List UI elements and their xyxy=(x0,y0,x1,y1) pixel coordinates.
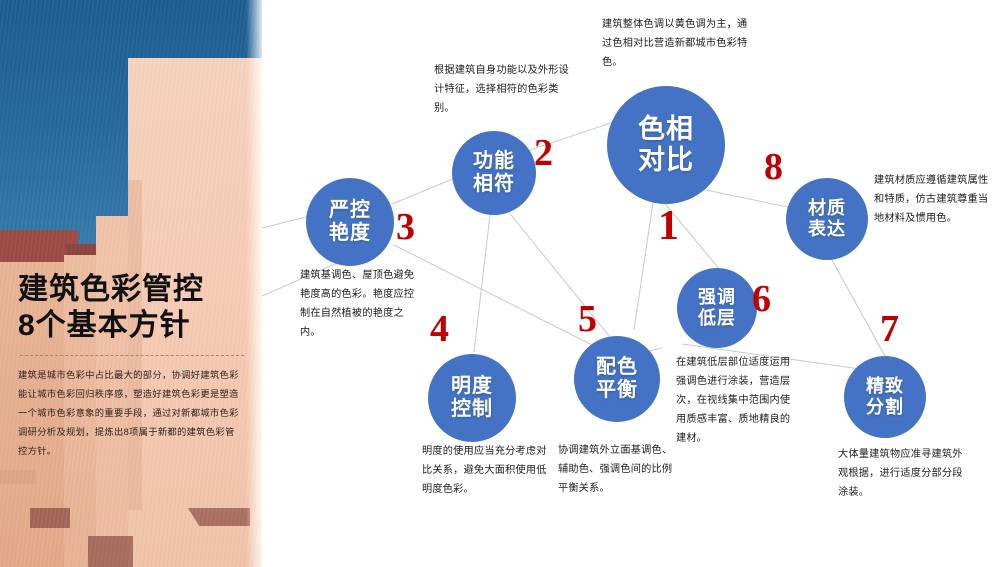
node-1-number: 1 xyxy=(658,205,679,247)
page-title-line-1: 建筑色彩管控 xyxy=(18,272,250,308)
node-3-label: 严控 艳度 xyxy=(329,199,371,245)
node-5-pei-se-ping-heng[interactable]: 配色 平衡 xyxy=(574,336,660,422)
title-block: 建筑色彩管控 8个基本方针 建筑是城市色彩中占比最大的部分，协调好建筑色彩能让城… xyxy=(18,272,250,461)
node-8-number: 8 xyxy=(764,148,783,186)
node-1-label: 色相 对比 xyxy=(638,114,694,176)
node-6-label: 强调 低层 xyxy=(698,287,736,328)
node-2-label: 功能 相符 xyxy=(473,150,515,196)
node-8-note: 建筑材质应遵循建筑属性和特质，仿古建筑尊重当地材料及惯用色。 xyxy=(874,172,996,229)
node-7-label: 精致 分割 xyxy=(866,376,904,417)
title-divider xyxy=(20,355,244,356)
page-title-line-2: 8个基本方针 xyxy=(18,308,250,344)
node-network-diagram: 色相 对比 1 建筑整体色调以黄色调为主，通过色相对比营造新都城市色彩特色。 功… xyxy=(262,0,1000,567)
node-3-note: 建筑基调色、屋顶色避免艳度高的色彩。艳度应控制在自然植被的艳度之内。 xyxy=(300,267,422,343)
node-5-note: 协调建筑外立面基调色、辅助色、强调色间的比例平衡关系。 xyxy=(558,442,680,499)
node-2-gong-neng-xiang-fu[interactable]: 功能 相符 xyxy=(452,131,536,215)
node-6-qiang-diao-di-ceng[interactable]: 强调 低层 xyxy=(677,268,757,348)
node-1-se-xiang-dui-bi[interactable]: 色相 对比 xyxy=(607,86,725,204)
node-2-number: 2 xyxy=(534,134,553,172)
node-5-number: 5 xyxy=(578,300,597,338)
node-3-yan-kong-yan-du[interactable]: 严控 艳度 xyxy=(306,178,394,266)
node-4-note: 明度的使用应当充分考虑对比关系，避免大面积使用低明度色彩。 xyxy=(422,443,550,500)
connector-1-5 xyxy=(634,196,654,330)
lead-paragraph: 建筑是城市色彩中占比最大的部分，协调好建筑色彩能让城市色彩回归秩序感，塑造好建筑… xyxy=(18,366,244,461)
node-1-note: 建筑整体色调以黄色调为主，通过色相对比营造新都城市色彩特色。 xyxy=(602,16,752,73)
node-2-note: 根据建筑自身功能以及外形设计特征，选择相符的色彩类别。 xyxy=(434,62,574,119)
node-3-number: 3 xyxy=(396,208,415,246)
node-4-number: 4 xyxy=(430,310,449,348)
node-6-number: 6 xyxy=(752,280,771,318)
node-4-label: 明度 控制 xyxy=(451,375,493,421)
node-7-note: 大体量建筑物应准寻建筑外观根据，进行适度分部分段涂装。 xyxy=(838,446,966,503)
node-8-cai-zhi-biao-da[interactable]: 材质 表达 xyxy=(786,178,868,260)
node-7-jing-zhi-fen-ge[interactable]: 精致 分割 xyxy=(844,356,926,438)
node-8-label: 材质 表达 xyxy=(808,198,846,239)
node-5-label: 配色 平衡 xyxy=(596,356,638,402)
connector-2-4 xyxy=(474,215,490,352)
infographic-poster: 建筑色彩管控 8个基本方针 建筑是城市色彩中占比最大的部分，协调好建筑色彩能让城… xyxy=(0,0,1000,567)
node-6-note: 在建筑低层部位适度运用强调色进行涂装，营造层次，在视线集中范围内使用质感丰富、质… xyxy=(676,354,800,448)
node-7-number: 7 xyxy=(880,310,899,348)
node-4-ming-du-kong-zhi[interactable]: 明度 控制 xyxy=(428,354,516,442)
